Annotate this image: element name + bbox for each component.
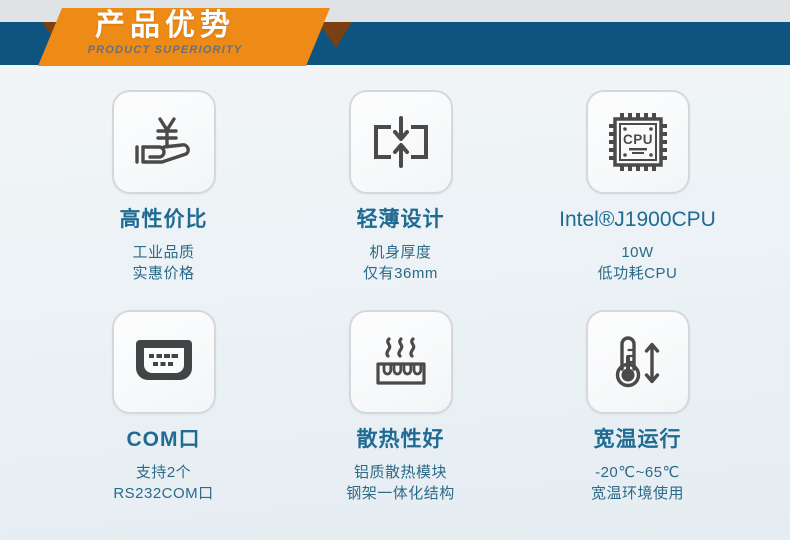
- feature-subtitle-line: -20℃~65℃: [506, 462, 769, 483]
- feature-title: 宽温运行: [506, 427, 769, 453]
- feature-subtitle-line: 低功耗CPU: [506, 263, 769, 284]
- feature-item: COM口 支持2个 RS232COM口: [32, 310, 295, 504]
- banner-title: 产品优势: [0, 8, 330, 44]
- feature-subtitle: 铝质散热模块 钢架一体化结构: [269, 462, 532, 504]
- feature-subtitle-line: 工业品质: [32, 242, 295, 263]
- product-superiority-page: 产品优势 PRODUCT SUPERIORITY 高性: [0, 0, 790, 540]
- feature-subtitle-line: 铝质散热模块: [269, 462, 532, 483]
- feature-title: Intel®J1900CPU: [506, 207, 769, 233]
- feature-subtitle-line: 实惠价格: [32, 263, 295, 284]
- feature-subtitle-line: RS232COM口: [32, 483, 295, 504]
- feature-title: COM口: [32, 427, 295, 453]
- cpu-chip-icon: CPU: [586, 90, 690, 194]
- feature-title: 高性价比: [32, 207, 295, 233]
- feature-subtitle: 工业品质 实惠价格: [32, 242, 295, 284]
- feature-item: 散热性好 铝质散热模块 钢架一体化结构: [269, 310, 532, 504]
- feature-item: CPU Intel®J1900CPU 10W 低功耗CPU: [506, 90, 769, 284]
- feature-subtitle: 支持2个 RS232COM口: [32, 462, 295, 504]
- feature-item: 高性价比 工业品质 实惠价格: [32, 90, 295, 284]
- hand-holding-yuan-icon: [112, 90, 216, 194]
- feature-grid: 高性价比 工业品质 实惠价格: [0, 72, 790, 540]
- feature-item: 宽温运行 -20℃~65℃ 宽温环境使用: [506, 310, 769, 504]
- feature-item: 轻薄设计 机身厚度 仅有36mm: [269, 90, 532, 284]
- svg-text:CPU: CPU: [622, 132, 652, 147]
- heat-dissipation-icon: [349, 310, 453, 414]
- feature-subtitle: 机身厚度 仅有36mm: [269, 242, 532, 284]
- feature-subtitle-line: 钢架一体化结构: [269, 483, 532, 504]
- feature-subtitle-line: 宽温环境使用: [506, 483, 769, 504]
- header-banner: 产品优势 PRODUCT SUPERIORITY: [0, 0, 790, 72]
- com-port-connector-icon: [112, 310, 216, 414]
- feature-subtitle: -20℃~65℃ 宽温环境使用: [506, 462, 769, 504]
- feature-subtitle-line: 10W: [506, 242, 769, 263]
- feature-subtitle: 10W 低功耗CPU: [506, 242, 769, 284]
- feature-subtitle-line: 仅有36mm: [269, 263, 532, 284]
- banner-subtitle: PRODUCT SUPERIORITY: [0, 44, 330, 56]
- feature-subtitle-line: 支持2个: [32, 462, 295, 483]
- feature-subtitle-line: 机身厚度: [269, 242, 532, 263]
- feature-title: 散热性好: [269, 427, 532, 453]
- thin-compress-arrows-icon: [349, 90, 453, 194]
- feature-title: 轻薄设计: [269, 207, 532, 233]
- thermometer-range-icon: [586, 310, 690, 414]
